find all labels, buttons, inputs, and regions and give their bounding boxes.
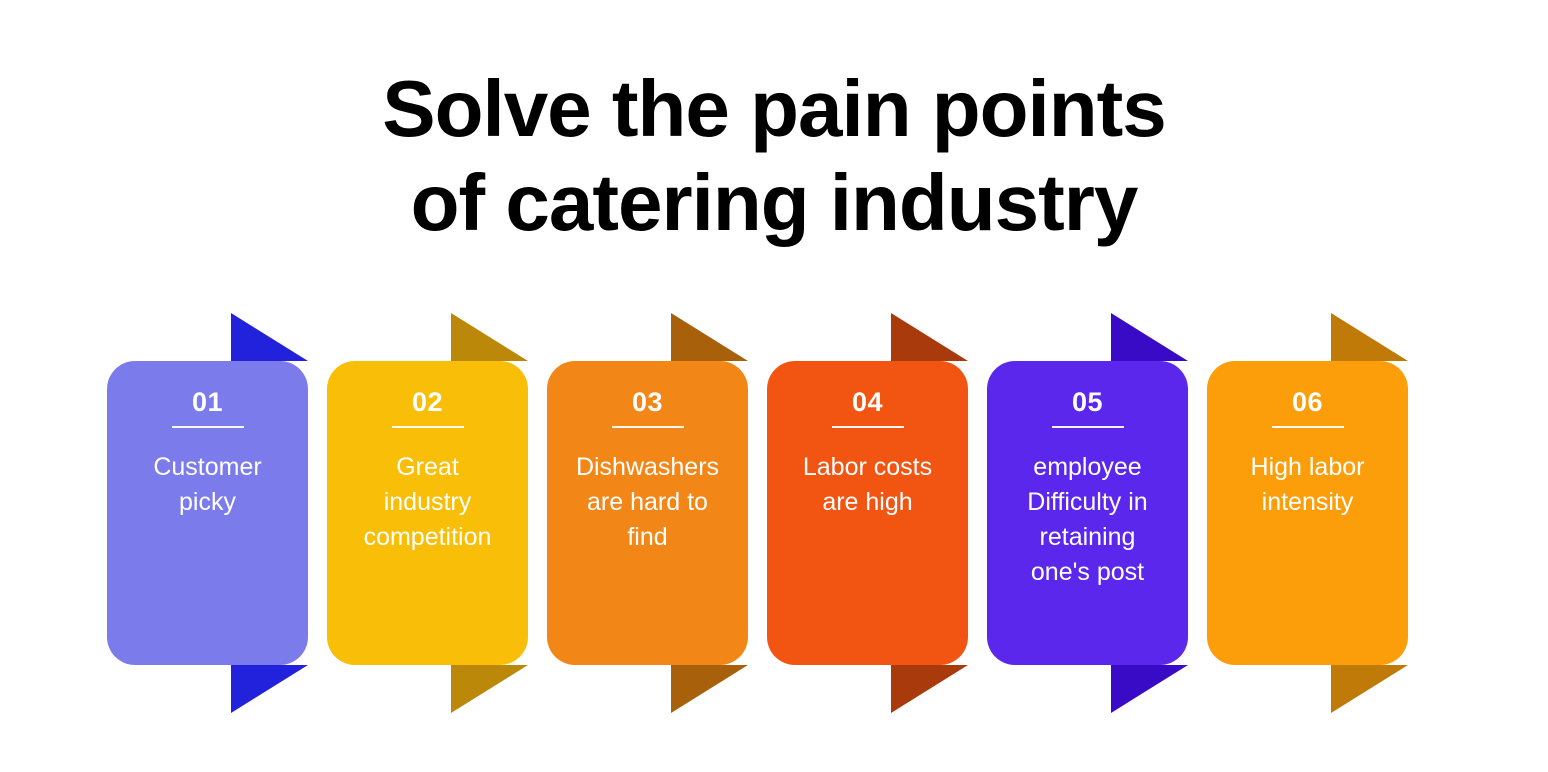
ribbon-fold-bottom-icon — [1111, 665, 1188, 713]
card-divider — [1272, 426, 1344, 428]
slide-root: Solve the pain points of catering indust… — [0, 0, 1548, 772]
card-number: 03 — [561, 389, 734, 416]
pain-point-card[interactable]: 05employee Difficulty in retaining one's… — [987, 313, 1188, 713]
pain-point-card[interactable]: 06High labor intensity — [1207, 313, 1408, 713]
pain-point-card-row: 01Customer picky02Great industry competi… — [107, 313, 1447, 713]
ribbon-fold-top-icon — [1331, 313, 1408, 361]
page-title: Solve the pain points of catering indust… — [0, 62, 1548, 251]
card-divider — [172, 426, 244, 428]
card-divider — [832, 426, 904, 428]
card-divider — [392, 426, 464, 428]
ribbon-fold-bottom-icon — [671, 665, 748, 713]
card-label: employee Difficulty in retaining one's p… — [1001, 450, 1174, 590]
pain-point-card[interactable]: 02Great industry competition — [327, 313, 528, 713]
card-label: Great industry competition — [341, 450, 514, 555]
card-label: High labor intensity — [1221, 450, 1394, 520]
card-body[interactable]: 05employee Difficulty in retaining one's… — [987, 361, 1188, 665]
ribbon-fold-bottom-icon — [451, 665, 528, 713]
card-label: Dishwashers are hard to find — [561, 450, 734, 555]
card-number: 05 — [1001, 389, 1174, 416]
card-divider — [612, 426, 684, 428]
ribbon-fold-top-icon — [1111, 313, 1188, 361]
card-label: Customer picky — [121, 450, 294, 520]
card-number: 04 — [781, 389, 954, 416]
ribbon-fold-bottom-icon — [231, 665, 308, 713]
card-number: 06 — [1221, 389, 1394, 416]
ribbon-fold-top-icon — [451, 313, 528, 361]
card-body[interactable]: 02Great industry competition — [327, 361, 528, 665]
card-body[interactable]: 06High labor intensity — [1207, 361, 1408, 665]
pain-point-card[interactable]: 01Customer picky — [107, 313, 308, 713]
ribbon-fold-bottom-icon — [891, 665, 968, 713]
ribbon-fold-top-icon — [671, 313, 748, 361]
card-number: 02 — [341, 389, 514, 416]
pain-point-card[interactable]: 04Labor costs are high — [767, 313, 968, 713]
ribbon-fold-top-icon — [231, 313, 308, 361]
card-body[interactable]: 04Labor costs are high — [767, 361, 968, 665]
card-number: 01 — [121, 389, 294, 416]
card-divider — [1052, 426, 1124, 428]
card-body[interactable]: 01Customer picky — [107, 361, 308, 665]
pain-point-card[interactable]: 03Dishwashers are hard to find — [547, 313, 748, 713]
ribbon-fold-bottom-icon — [1331, 665, 1408, 713]
card-body[interactable]: 03Dishwashers are hard to find — [547, 361, 748, 665]
card-label: Labor costs are high — [781, 450, 954, 520]
ribbon-fold-top-icon — [891, 313, 968, 361]
